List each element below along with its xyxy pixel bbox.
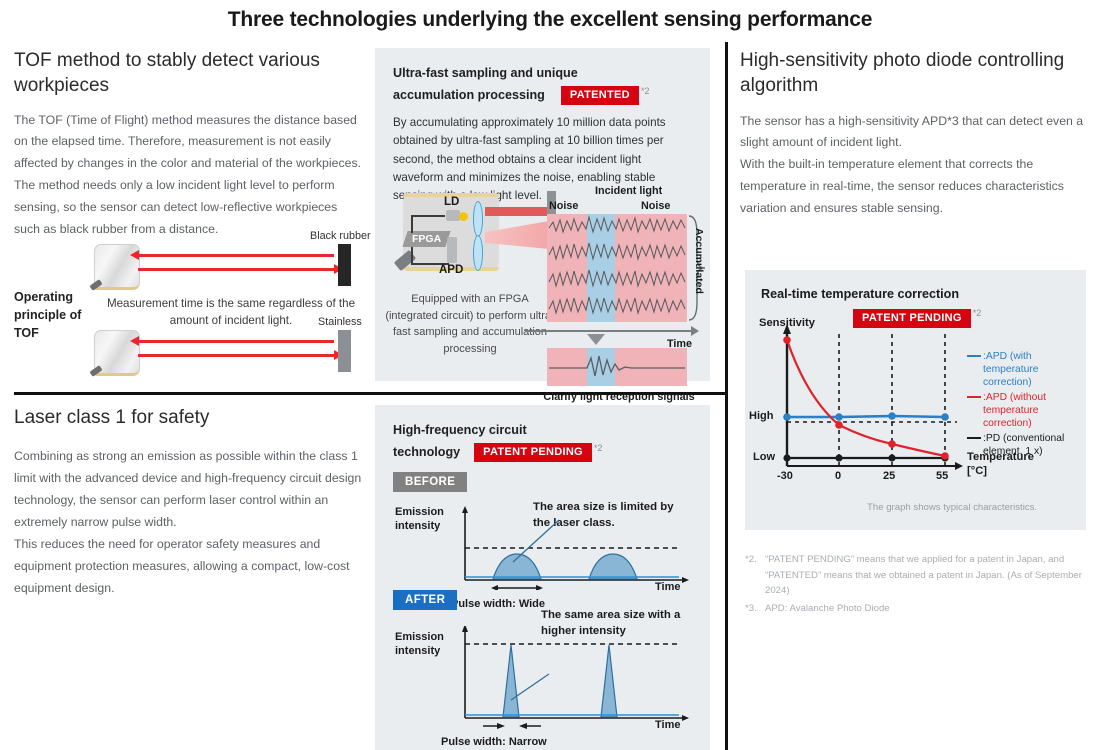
- after-chart: AFTER Emission intensity The same area s…: [393, 590, 693, 730]
- beam-return-top: [138, 254, 334, 257]
- result-waveform-box: [547, 348, 687, 386]
- legend-apd-without-correction-l3: correction): [983, 417, 1032, 430]
- legend-pd-conventional: :PD (conventional element, 1 x): [967, 432, 1064, 458]
- laser-heading: Laser class 1 for safety: [14, 405, 366, 430]
- legend-apd-without-correction-l1: :APD (without: [983, 392, 1046, 403]
- chart-xtick-25: 25: [883, 470, 895, 482]
- wire-ld-h: [411, 215, 445, 217]
- footnote-3-number: *3.: [745, 601, 765, 617]
- apd-heading: High-sensitivity photo diode controlling…: [740, 48, 1086, 99]
- before-chart: BEFORE Emission intensity The area size …: [393, 472, 693, 594]
- target-stainless: [338, 330, 351, 372]
- noise-right-label: Noise: [641, 200, 670, 212]
- chart-note: The graph shows typical characteristics.: [867, 502, 1037, 513]
- flow-down-arrow: [587, 334, 605, 345]
- legend-apd-with-correction-l2: temperature: [983, 363, 1039, 376]
- footnote-2-text: “PATENT PENDING” means that we applied f…: [765, 552, 1093, 599]
- chart-xtick-0: 0: [835, 470, 841, 482]
- time-axis-line: [525, 330, 693, 332]
- fpga-label: FPGA: [412, 233, 441, 245]
- hfc-heading-line1: High-frequency circuit: [393, 421, 699, 441]
- incident-light-label: Incident light: [595, 185, 662, 197]
- emitter-lens: [473, 201, 483, 237]
- target-label-black-rubber: Black rubber: [310, 230, 371, 242]
- schematic-caption: Equipped with an FPGA (integrated circui…: [385, 291, 555, 357]
- wire-ld-v: [411, 215, 413, 233]
- ld-light-dot: [459, 212, 468, 221]
- patented-badge-footnote-ref: *2: [641, 86, 650, 96]
- fpga-chip: FPGA: [402, 231, 450, 247]
- noise-traces: [547, 214, 687, 322]
- chart-ytick-low: Low: [753, 451, 775, 463]
- beam-emit-bottom: [138, 354, 334, 357]
- hfc-panel: High-frequency circuit technology PATENT…: [375, 405, 710, 750]
- tof-heading: TOF method to stably detect various work…: [14, 48, 366, 99]
- legend-swatch-black: [967, 437, 981, 439]
- ld-label: LD: [444, 196, 459, 208]
- emit-beam: [485, 207, 549, 216]
- accumulated-label: Accumulated: [693, 228, 705, 294]
- hfc-heading-line2: technology: [393, 443, 460, 463]
- fpga-schematic: LD FPGA APD Equipped with an FPGA (integ…: [389, 191, 549, 371]
- legend-swatch-blue: [967, 355, 981, 357]
- legend-apd-without-correction: :APD (without temperature correction): [967, 391, 1046, 431]
- legend-pd-conventional-l1: :PD (conventional: [983, 433, 1064, 444]
- chart-xtick-55: 55: [936, 470, 948, 482]
- ld-emitter: [446, 210, 460, 221]
- chart-ytick-high: High: [749, 410, 773, 422]
- beam-emit-top: [138, 268, 334, 271]
- sampling-heading-line2: accumulation processing: [393, 86, 545, 106]
- target-label-stainless: Stainless: [318, 316, 362, 328]
- footnote-3: *3. APD: Avalanche Photo Diode: [745, 601, 1093, 617]
- legend-apd-without-correction-l2: temperature: [983, 404, 1039, 417]
- receiver-lens: [473, 235, 483, 271]
- footnote-3-text: APD: Avalanche Photo Diode: [765, 601, 890, 617]
- hfc-badge-footnote-ref: *2: [594, 443, 603, 453]
- beam-return-arrowhead-top: [130, 250, 139, 260]
- apd-body-line1: The sensor has a high-sensitivity APD*3 …: [740, 111, 1086, 155]
- laser-section: Laser class 1 for safety Combining as st…: [14, 405, 366, 599]
- infographic-page: Three technologies underlying the excell…: [0, 0, 1100, 750]
- tof-section: TOF method to stably detect various work…: [14, 48, 366, 241]
- page-title: Three technologies underlying the excell…: [0, 8, 1100, 32]
- sampling-panel: Ultra-fast sampling and unique accumulat…: [375, 48, 710, 381]
- patent-pending-badge-hfc: PATENT PENDING: [474, 443, 592, 462]
- patented-badge: PATENTED: [561, 86, 639, 105]
- apd-section: High-sensitivity photo diode controlling…: [740, 48, 1086, 220]
- tof-diagram: Operating principle of TOF Black rubber …: [8, 238, 368, 386]
- before-plot: [393, 504, 693, 590]
- footnote-2: *2. “PATENT PENDING” means that we appli…: [745, 552, 1093, 599]
- noise-left-label: Noise: [549, 200, 578, 212]
- beam-return-arrowhead-bottom: [130, 336, 139, 346]
- temperature-correction-chart-panel: Real-time temperature correction PATENT …: [745, 270, 1086, 530]
- apd-label: APD: [439, 264, 463, 276]
- accumulated-waveform-box: [547, 214, 687, 322]
- clean-signal-trace: [547, 348, 687, 386]
- target-black-rubber: [338, 244, 351, 286]
- footnotes: *2. “PATENT PENDING” means that we appli…: [745, 552, 1093, 616]
- after-pulse-width-label: Pulse width: Narrow: [441, 735, 547, 749]
- legend-swatch-red: [967, 396, 981, 398]
- legend-apd-with-correction-l1: :APD (with: [983, 351, 1032, 362]
- apd-body-line2: With the built-in temperature element th…: [740, 154, 1086, 220]
- legend-apd-with-correction: :APD (with temperature correction): [967, 350, 1039, 390]
- sampling-heading-line1: Ultra-fast sampling and unique: [393, 64, 693, 84]
- beam-return-bottom: [138, 340, 334, 343]
- chart-xtick-minus30: -30: [777, 470, 793, 482]
- result-caption: Clarify light reception signals: [539, 391, 699, 403]
- after-plot: [393, 626, 693, 736]
- tof-diagram-side-label: Operating principle of TOF: [14, 288, 92, 342]
- legend-apd-with-correction-l3: correction): [983, 376, 1032, 389]
- vertical-divider: [725, 42, 728, 750]
- after-x-axis-label: Time: [655, 718, 680, 732]
- before-tag: BEFORE: [393, 472, 467, 492]
- laser-body: Combining as strong an emission as possi…: [14, 446, 366, 599]
- tof-body: The TOF (Time of Flight) method measures…: [14, 110, 366, 241]
- time-axis-arrow: [691, 326, 699, 336]
- after-tag: AFTER: [393, 590, 457, 610]
- legend-pd-conventional-l2: element, 1 x): [983, 445, 1043, 458]
- apd-detector: [447, 237, 457, 263]
- footnote-2-number: *2.: [745, 552, 765, 599]
- waveform-diagram: Incident light Noise Noise Accumulated: [543, 188, 703, 378]
